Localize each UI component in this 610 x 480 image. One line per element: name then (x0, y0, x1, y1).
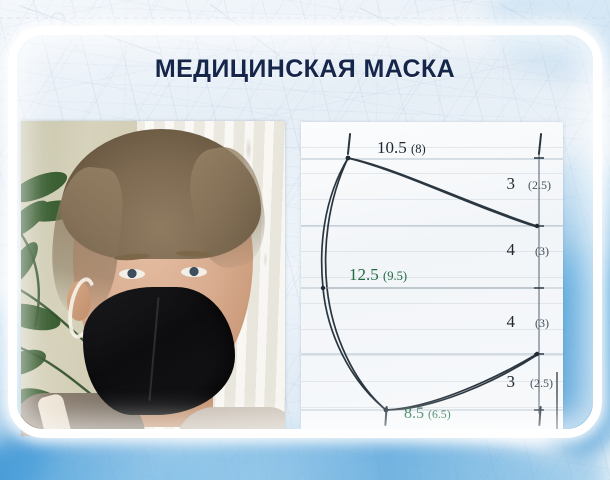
dimension-bottom-alt: (6.5) (428, 407, 451, 421)
slide-canvas: 10.5 (8) 12.5 (9.5) 8.5 (6.5) 3 (2.5) 4 … (0, 0, 610, 480)
dimension-bottom-main: 8.5 (404, 405, 424, 422)
dimension-top-alt: (8) (411, 142, 426, 156)
dimension-top: 10.5 (8) (377, 138, 426, 158)
dimension-middle-main: 12.5 (349, 265, 379, 284)
dimension-right-2-main: 4 (507, 240, 516, 260)
dimension-right-3-alt: (3) (535, 316, 549, 331)
dimension-right-1-main: 3 (507, 174, 516, 194)
eye-left (119, 269, 145, 279)
eye-right (181, 267, 207, 277)
dimension-right-4-main: 3 (507, 372, 516, 392)
dimension-right-4-alt: (2.5) (530, 376, 553, 391)
dimension-right-3-main: 4 (507, 312, 516, 332)
pattern-drawing (301, 122, 563, 436)
dimension-bottom: 8.5 (6.5) (404, 405, 451, 423)
dimension-middle: 12.5 (9.5) (349, 265, 407, 285)
dimension-right-2-alt: (3) (535, 244, 549, 259)
dimension-top-main: 10.5 (377, 138, 407, 157)
dimension-middle-alt: (9.5) (383, 269, 407, 283)
mask-photo (21, 121, 285, 436)
mask-pattern-diagram: 10.5 (8) 12.5 (9.5) 8.5 (6.5) 3 (2.5) 4 … (301, 122, 563, 436)
page-title: МЕДИЦИНСКАЯ МАСКА (0, 55, 610, 84)
dimension-right-1-alt: (2.5) (528, 178, 551, 193)
blueprint-dashed-lines (0, 4, 610, 56)
face-mask (83, 287, 235, 415)
